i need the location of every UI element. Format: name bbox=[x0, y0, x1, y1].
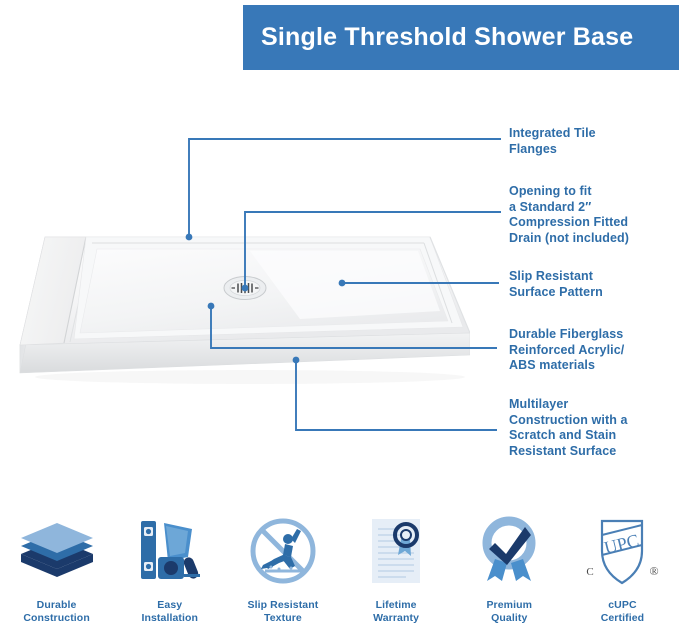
header-banner: Single Threshold Shower Base bbox=[243, 5, 679, 70]
upc-shield-left-mark: C bbox=[587, 566, 594, 578]
level-trowel-icon bbox=[128, 511, 212, 595]
feature-label: Lifetime Warranty bbox=[373, 599, 419, 625]
certificate-icon bbox=[354, 511, 438, 595]
product-illustration bbox=[0, 215, 470, 410]
upc-shield-right-mark: ® bbox=[650, 564, 659, 578]
feature-label: Durable Construction bbox=[23, 599, 90, 625]
no-slip-icon bbox=[241, 511, 325, 595]
callout-durable-materials: Durable Fiberglass Reinforced Acrylic/ A… bbox=[509, 327, 624, 374]
feature-label: Easy Installation bbox=[141, 599, 198, 625]
base-shadow bbox=[35, 370, 465, 384]
layers-icon bbox=[15, 511, 99, 595]
feature-label: cUPC Certified bbox=[601, 599, 645, 625]
drain-grate bbox=[224, 277, 266, 300]
upc-shield-icon: UPC C ® bbox=[580, 511, 664, 595]
feature-label: Premium Quality bbox=[486, 599, 532, 625]
feature-premium-quality: Premium Quality bbox=[453, 505, 566, 625]
feature-durable-construction: Durable Construction bbox=[0, 505, 113, 625]
callout-multilayer-construction: Multilayer Construction with a Scratch a… bbox=[509, 397, 628, 459]
feature-slip-resistant-texture: Slip Resistant Texture bbox=[226, 505, 339, 625]
feature-label: Slip Resistant Texture bbox=[248, 599, 319, 625]
infographic-root: Single Threshold Shower Base bbox=[0, 0, 679, 637]
callout-slip-resistant-surface: Slip Resistant Surface Pattern bbox=[509, 269, 603, 300]
callout-drain-opening: Opening to fit a Standard 2″ Compression… bbox=[509, 184, 629, 246]
feature-easy-installation: Easy Installation bbox=[113, 505, 226, 625]
page-title: Single Threshold Shower Base bbox=[243, 23, 633, 52]
callout-integrated-tile-flanges: Integrated Tile Flanges bbox=[509, 126, 596, 157]
feature-strip: Durable Construction bbox=[0, 505, 679, 637]
feature-cupc-certified: UPC C ® cUPC Certified bbox=[566, 505, 679, 625]
feature-lifetime-warranty: Lifetime Warranty bbox=[340, 505, 453, 625]
award-ribbon-icon bbox=[467, 511, 551, 595]
